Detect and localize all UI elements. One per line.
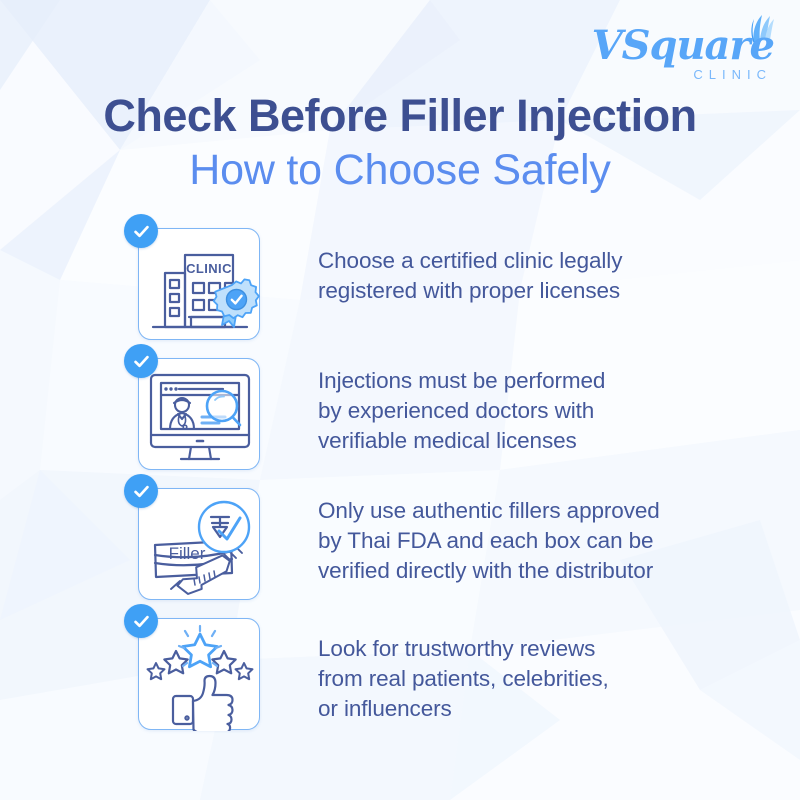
list-item: Filler — [0, 488, 800, 618]
icon-wrapper — [138, 618, 276, 730]
monitor-doctor-profile-magnifier-icon — [138, 358, 260, 470]
list-item: CLINIC Choose a certified clinic legally… — [0, 228, 800, 358]
check-circle-icon — [124, 214, 158, 248]
text-line: Injections must be performed — [318, 366, 605, 396]
clinic-building-certificate-icon: CLINIC — [138, 228, 260, 340]
filler-icon-label: Filler — [169, 544, 206, 563]
list-item-text: Look for trustworthy reviews from real p… — [318, 618, 609, 724]
text-line: Look for trustworthy reviews — [318, 634, 609, 664]
heading-block: Check Before Filler Injection How to Cho… — [0, 92, 800, 193]
page-subtitle: How to Choose Safely — [0, 148, 800, 193]
text-line: from real patients, celebrities, — [318, 664, 609, 694]
list-item-text: Choose a certified clinic legally regist… — [318, 228, 622, 306]
list-item-text: Only use authentic fillers approved by T… — [318, 488, 660, 586]
infographic-poster: VSquare CLINIC Check Before Filler Injec… — [0, 0, 800, 800]
list-item: Injections must be performed by experien… — [0, 358, 800, 488]
logo-subtitle: CLINIC — [693, 68, 772, 81]
icon-wrapper — [138, 358, 276, 470]
text-line: Choose a certified clinic legally — [318, 246, 622, 276]
list-item-text: Injections must be performed by experien… — [318, 358, 605, 456]
icon-wrapper: Filler — [138, 488, 276, 600]
clinic-icon-label: CLINIC — [186, 261, 232, 276]
check-circle-icon — [124, 344, 158, 378]
tips-list: CLINIC Choose a certified clinic legally… — [0, 228, 800, 748]
list-item: Look for trustworthy reviews from real p… — [0, 618, 800, 748]
filler-box-syringe-approved-icon: Filler — [138, 488, 260, 600]
text-line: registered with proper licenses — [318, 276, 622, 306]
text-line: by experienced doctors with — [318, 396, 605, 426]
text-line: Only use authentic fillers approved — [318, 496, 660, 526]
icon-wrapper: CLINIC — [138, 228, 276, 340]
check-circle-icon — [124, 474, 158, 508]
text-line: verifiable medical licenses — [318, 426, 605, 456]
brand-logo: VSquare CLINIC — [582, 12, 782, 84]
text-line: or influencers — [318, 694, 609, 724]
five-stars-thumbs-up-icon — [138, 618, 260, 730]
check-circle-icon — [124, 604, 158, 638]
text-line: verified directly with the distributor — [318, 556, 660, 586]
text-line: by Thai FDA and each box can be — [318, 526, 660, 556]
page-title: Check Before Filler Injection — [0, 92, 800, 139]
logo-wordmark: VSquare — [592, 26, 774, 66]
